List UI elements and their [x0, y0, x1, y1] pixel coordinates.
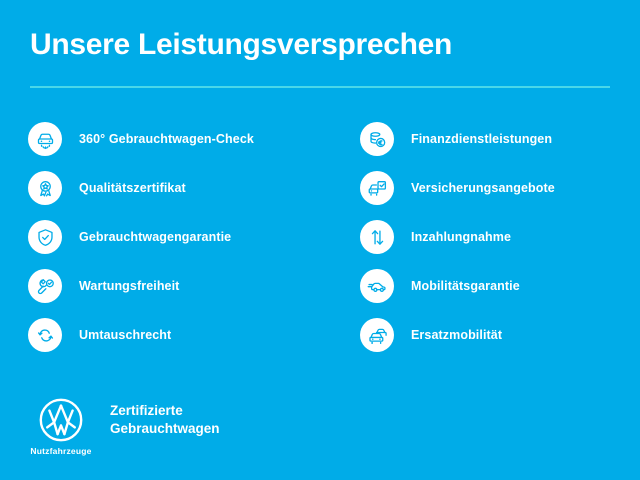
brand-footer: Nutzfahrzeuge Zertifizierte Gebrauchtwag…	[30, 396, 220, 456]
list-item[interactable]: Qualitätszertifikat	[28, 171, 348, 205]
list-item-label: Finanzdienstleistungen	[411, 132, 552, 146]
list-item-label: Wartungsfreiheit	[79, 279, 179, 293]
promises-column-right: Finanzdienstleistungen Versicherungsange…	[360, 122, 630, 367]
list-item[interactable]: Wartungsfreiheit	[28, 269, 348, 303]
list-item-label: Qualitätszertifikat	[79, 181, 186, 195]
car-inspection-icon	[28, 122, 62, 156]
list-item-label: 360° Gebrauchtwagen-Check	[79, 132, 254, 146]
list-item[interactable]: Ersatzmobilität	[360, 318, 630, 352]
list-item-label: Versicherungsangebote	[411, 181, 555, 195]
list-item[interactable]: Inzahlungnahme	[360, 220, 630, 254]
list-item-label: Gebrauchtwagengarantie	[79, 230, 231, 244]
van-motion-icon	[360, 269, 394, 303]
list-item[interactable]: Umtauschrecht	[28, 318, 348, 352]
car-checklist-icon	[360, 171, 394, 205]
brand-claim: Zertifizierte Gebrauchtwagen	[110, 402, 220, 438]
title-divider	[30, 86, 610, 88]
two-cars-icon	[360, 318, 394, 352]
list-item[interactable]: Gebrauchtwagengarantie	[28, 220, 348, 254]
coins-euro-icon	[360, 122, 394, 156]
quality-seal-icon	[28, 171, 62, 205]
brand-claim-line1: Zertifizierte	[110, 402, 220, 420]
brand-mark: Nutzfahrzeuge	[30, 396, 92, 456]
exchange-arrows-icon	[28, 318, 62, 352]
list-item[interactable]: Finanzdienstleistungen	[360, 122, 630, 156]
brand-sub-label: Nutzfahrzeuge	[30, 446, 91, 456]
page-title: Unsere Leistungsversprechen	[30, 28, 610, 61]
list-item-label: Mobilitätsgarantie	[411, 279, 520, 293]
promises-column-left: 360° Gebrauchtwagen-Check Qualitätszerti…	[28, 122, 348, 367]
shield-check-icon	[28, 220, 62, 254]
volkswagen-logo	[37, 396, 85, 444]
slide-root: Unsere Leistungsversprechen 360° Gebrauc…	[0, 0, 640, 480]
list-item-label: Umtauschrecht	[79, 328, 171, 342]
wrench-check-icon	[28, 269, 62, 303]
list-item-label: Inzahlungnahme	[411, 230, 511, 244]
header: Unsere Leistungsversprechen	[30, 28, 610, 61]
list-item[interactable]: Versicherungsangebote	[360, 171, 630, 205]
list-item[interactable]: Mobilitätsgarantie	[360, 269, 630, 303]
list-item[interactable]: 360° Gebrauchtwagen-Check	[28, 122, 348, 156]
list-item-label: Ersatzmobilität	[411, 328, 502, 342]
up-down-arrows-icon	[360, 220, 394, 254]
brand-claim-line2: Gebrauchtwagen	[110, 420, 220, 438]
